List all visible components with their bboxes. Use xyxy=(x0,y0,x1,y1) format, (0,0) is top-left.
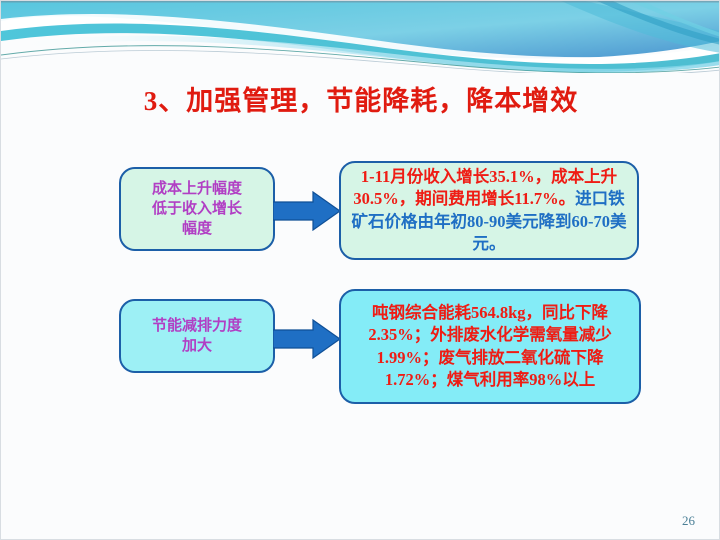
callout-energy-detail: 吨钢综合能耗564.8kg，同比下降2.35%；外排废水化学需氧量减少1.99%… xyxy=(339,289,641,404)
slide-canvas: 3、加强管理，节能降耗，降本增效 成本上升幅度 低于收入增长 幅度 1-11月份… xyxy=(0,0,720,540)
wave-ribbon-decoration xyxy=(1,1,720,73)
callout-energy-label-line-1: 节能减排力度 xyxy=(152,318,242,334)
callout-cost-label-line-3: 幅度 xyxy=(182,221,212,237)
page-title: 3、加强管理，节能降耗，降本增效 xyxy=(1,79,720,118)
right-arrow-icon xyxy=(273,191,341,236)
right-arrow-icon xyxy=(273,319,341,364)
callout-cost-detail: 1-11月份收入增长35.1%，成本上升30.5%，期间费用增长11.7%。进口… xyxy=(339,161,639,260)
callout-cost-label-line-2: 低于收入增长 xyxy=(152,201,242,217)
callout-cost-label-line-1: 成本上升幅度 xyxy=(152,181,242,197)
callout-energy-label-line-2: 加大 xyxy=(182,338,212,354)
callout-energy-label: 节能减排力度 加大 xyxy=(119,299,275,373)
callout-cost-label: 成本上升幅度 低于收入增长 幅度 xyxy=(119,167,275,251)
page-number: 26 xyxy=(682,513,695,529)
callout-energy-detail-red: 吨钢综合能耗564.8kg，同比下降2.35%；外排废水化学需氧量减少1.99%… xyxy=(368,303,611,388)
